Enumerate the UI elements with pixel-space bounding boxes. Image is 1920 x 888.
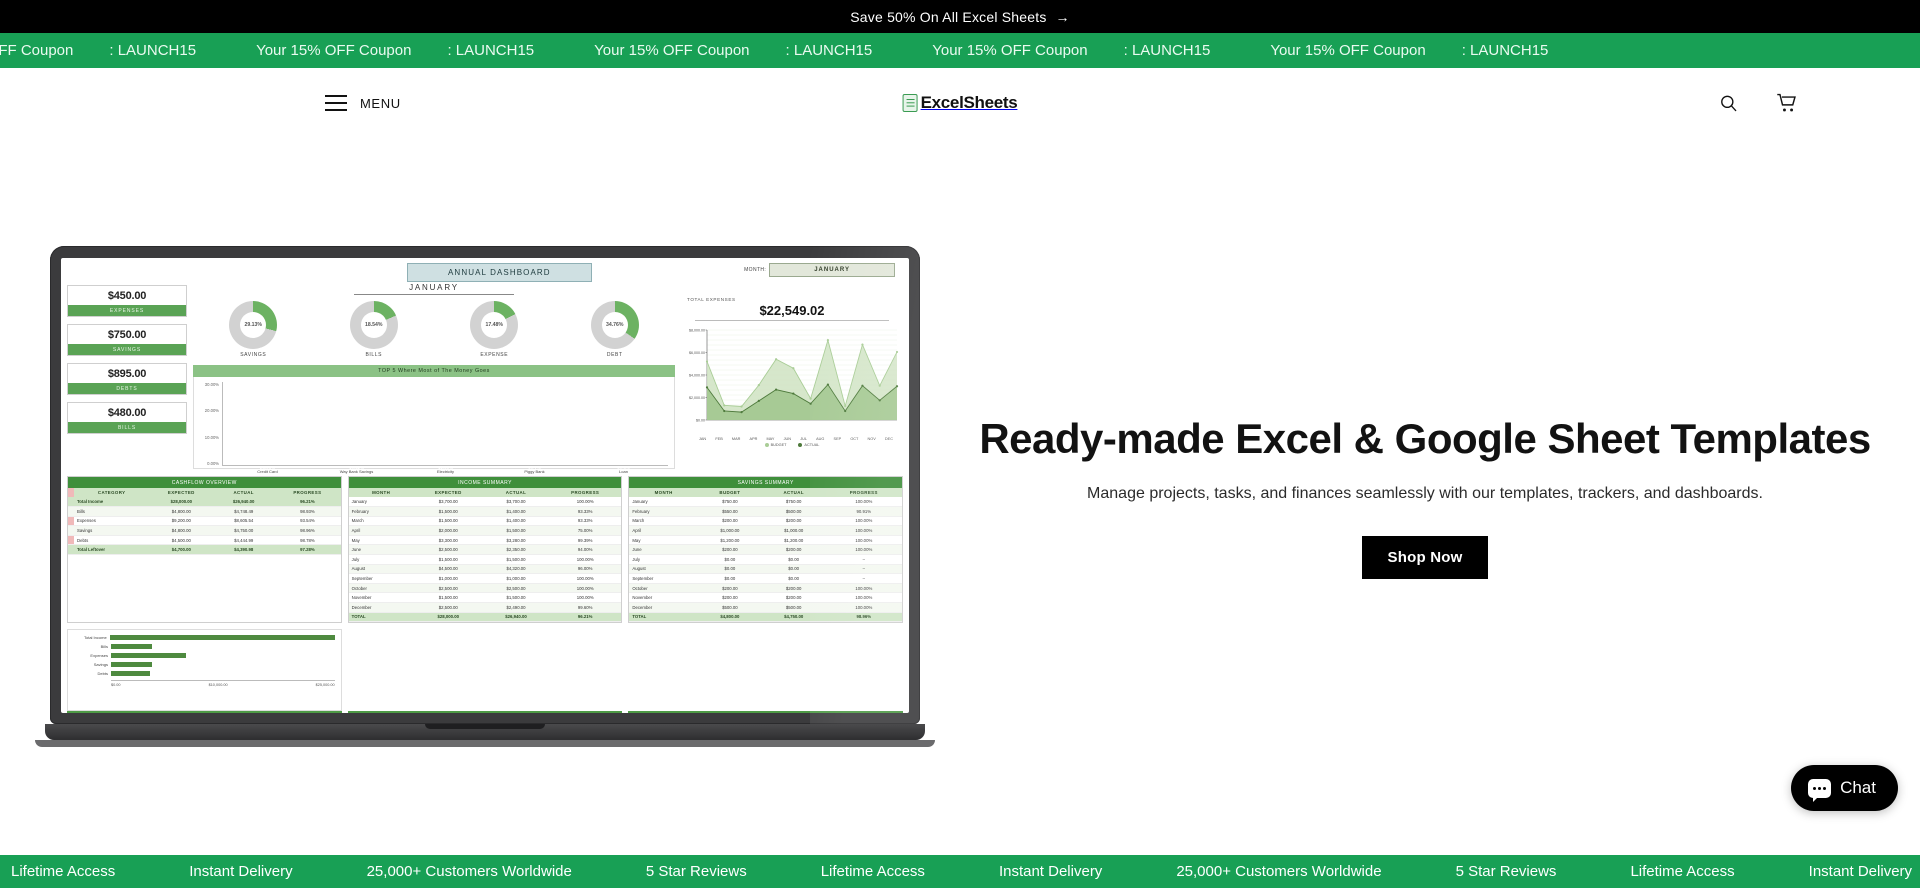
announcement-text: Save 50% On All Excel Sheets bbox=[850, 9, 1046, 25]
feature-item: Instant Delivery bbox=[1772, 863, 1920, 880]
x-tick-label: $10,000.00 bbox=[209, 683, 228, 687]
feature-item: 25,000+ Customers Worldwide bbox=[330, 863, 609, 880]
column-header: ACTUAL bbox=[213, 488, 274, 497]
shop-now-button[interactable]: Shop Now bbox=[1362, 536, 1489, 579]
donut-ring: 34.76% bbox=[591, 301, 639, 349]
table-row: April$1,000.00$1,000.00100.00% bbox=[629, 526, 902, 536]
table-cell: $200.00 bbox=[762, 545, 826, 555]
table-cell: 98.93% bbox=[274, 506, 341, 516]
excel-dashboard: ANNUAL DASHBOARD MONTH: JANUARY $450.00E… bbox=[61, 258, 909, 713]
column-header: PROGRESS bbox=[274, 488, 341, 497]
table-cell: $200.00 bbox=[762, 516, 826, 526]
table-cell: $1,500.00 bbox=[483, 593, 549, 603]
column-header: PROGRESS bbox=[549, 488, 621, 497]
kpi-card: $895.00DEBTS bbox=[67, 363, 187, 395]
table-cell: September bbox=[349, 574, 414, 584]
table-cell: $0.00 bbox=[698, 574, 762, 584]
table-cell: May bbox=[349, 535, 414, 545]
top5-bar-chart: 30.00%20.00%10.00%0.00% 25.05%Credit Car… bbox=[193, 377, 675, 469]
total-expenses-value: $22,549.02 bbox=[695, 303, 889, 321]
table-cell: $1,000.00 bbox=[698, 526, 762, 536]
logo-text: ExcelSheets bbox=[921, 93, 1018, 113]
table-cell: November bbox=[629, 593, 698, 603]
table-cell: July bbox=[349, 554, 414, 564]
coupon-item: Your 15% OFF Coupon: LAUNCH15 bbox=[932, 42, 1210, 59]
dashboard-top-row: $450.00EXPENSES$750.00SAVINGS$895.00DEBT… bbox=[67, 279, 903, 469]
hbar-label: Expenses bbox=[74, 653, 108, 658]
cart-button[interactable] bbox=[1772, 89, 1802, 118]
cashflow-hbar-chart: Total IncomeBillsExpensesSavingsDebts$0.… bbox=[67, 629, 342, 711]
feature-item: Instant Delivery bbox=[152, 863, 329, 880]
table-cell: $28,000.00 bbox=[149, 497, 213, 506]
y-tick-label: 30.00% bbox=[200, 382, 219, 387]
table-row: Total Leftover$4,700.00$4,390.9897.28% bbox=[68, 545, 341, 555]
table-cell: 100.00% bbox=[549, 593, 621, 603]
daily-expense-title: DAILY EXPENSE SUMMARY bbox=[67, 711, 342, 713]
table-cell: $3,280.00 bbox=[483, 535, 549, 545]
table-cell: $1,000.00 bbox=[762, 526, 826, 536]
table-cell: $2,500.00 bbox=[483, 583, 549, 593]
coupon-code: : LAUNCH15 bbox=[447, 42, 534, 59]
table-cell: $4,800.00 bbox=[149, 526, 213, 536]
table-row: November$200.00$200.00100.00% bbox=[629, 593, 902, 603]
table-cell: 100.00% bbox=[826, 593, 902, 603]
search-button[interactable] bbox=[1715, 90, 1742, 117]
table-row: May$1,200.00$1,200.00100.00% bbox=[629, 535, 902, 545]
table-row: September$0.00$0.00– bbox=[629, 574, 902, 584]
x-tick-label: NOV bbox=[868, 437, 876, 441]
table-cell: $3,700.00 bbox=[414, 497, 483, 506]
table-cell: 100.00% bbox=[826, 535, 902, 545]
table-row: TOTAL$4,800.00$4,750.0098.96% bbox=[629, 612, 902, 622]
table-cell: August bbox=[349, 564, 414, 574]
table-cell: $4,700.00 bbox=[149, 545, 213, 555]
table-cell: $4,800.00 bbox=[698, 612, 762, 622]
dashboard-middle: JANUARY 29.13%SAVINGS18.54%BILLS17.48%EX… bbox=[193, 279, 675, 469]
table-cell: 75.00% bbox=[549, 526, 621, 536]
table-cell: $9,200.00 bbox=[149, 516, 213, 526]
table-cell: $1,000.00 bbox=[483, 574, 549, 584]
dashboard-title-row: ANNUAL DASHBOARD MONTH: JANUARY bbox=[67, 263, 903, 279]
table-cell: 100.00% bbox=[826, 497, 902, 506]
table-cell: $4,750.00 bbox=[213, 526, 274, 536]
table-cell: Total Leftover bbox=[74, 545, 149, 555]
table-row: February$1,500.00$1,400.0093.33% bbox=[349, 506, 622, 516]
kpi-card: $480.00BILLS bbox=[67, 402, 187, 434]
table-cell: March bbox=[629, 516, 698, 526]
table-row: December$500.00$500.00100.00% bbox=[629, 602, 902, 612]
table-cell: 96.21% bbox=[549, 612, 621, 622]
table-cell: 100.00% bbox=[549, 574, 621, 584]
table-cell: 98.78% bbox=[274, 535, 341, 545]
column-header: MONTH bbox=[629, 488, 698, 497]
coupon-item: Your 15% OFF Coupon: LAUNCH15 bbox=[256, 42, 534, 59]
laptop-foot bbox=[35, 740, 935, 747]
kpi-card: $450.00EXPENSES bbox=[67, 285, 187, 317]
kpi-tag: SAVINGS bbox=[68, 344, 186, 355]
legend-label: ACTUAL bbox=[804, 443, 819, 447]
table-row: October$2,500.00$2,500.00100.00% bbox=[349, 583, 622, 593]
document-icon bbox=[903, 94, 918, 112]
area-chart-svg: $0.00$2,000.00$4,000.00$6,000.00$8,000.0… bbox=[681, 326, 903, 428]
table-cell: TOTAL bbox=[629, 612, 698, 622]
table-row: March$200.00$200.00100.00% bbox=[629, 516, 902, 526]
chat-bubble-icon bbox=[1808, 779, 1831, 798]
coupon-code: : LAUNCH15 bbox=[1124, 42, 1211, 59]
table-cell: $0.00 bbox=[698, 564, 762, 574]
table-cell: December bbox=[629, 602, 698, 612]
x-tick-label: SEP bbox=[834, 437, 842, 441]
income-summary-table: INCOME SUMMARY MONTHEXPECTEDACTUALPROGRE… bbox=[348, 476, 623, 623]
hbar-fill bbox=[111, 644, 152, 649]
table-cell: 98.96% bbox=[826, 612, 902, 622]
table-cell: Savings bbox=[74, 526, 149, 536]
total-expenses-label: TOTAL EXPENSES bbox=[687, 297, 903, 302]
table-row: Debts$4,500.00$4,444.9998.78% bbox=[68, 535, 341, 545]
table-row: March$1,500.00$1,400.0093.33% bbox=[349, 516, 622, 526]
coupon-code: : LAUNCH15 bbox=[786, 42, 873, 59]
table-row: November$1,500.00$1,500.00100.00% bbox=[349, 593, 622, 603]
table-row: TOTAL$28,000.00$26,940.0096.21% bbox=[349, 612, 622, 622]
x-tick-label: AUG bbox=[816, 437, 824, 441]
bill-block: BILL SUMMARY MONTHBUDGETACTUALPROGRESS bbox=[348, 629, 623, 713]
table-cell: February bbox=[629, 506, 698, 516]
table-cell: 93.33% bbox=[549, 516, 621, 526]
feature-item: 25,000+ Customers Worldwide bbox=[1139, 863, 1418, 880]
table-cell: June bbox=[629, 545, 698, 555]
coupon-item: Your 15% OFF Coupon: LAUNCH15 bbox=[1270, 42, 1548, 59]
legend-swatch-icon bbox=[798, 443, 802, 447]
search-icon bbox=[1719, 94, 1738, 113]
savings-title: SAVINGS SUMMARY bbox=[629, 477, 902, 488]
bar-category-label: Piggy Bank bbox=[511, 469, 559, 474]
kpi-value: $480.00 bbox=[68, 403, 186, 422]
table-row: August$4,500.00$4,320.0096.00% bbox=[349, 564, 622, 574]
x-tick-label: JAN bbox=[699, 437, 706, 441]
table-row: Total Income$28,000.00$26,940.0096.21% bbox=[68, 497, 341, 506]
table-cell: $750.00 bbox=[762, 497, 826, 506]
table-cell: $1,500.00 bbox=[483, 526, 549, 536]
hbar-row: Expenses bbox=[74, 653, 335, 658]
table-cell: Bills bbox=[74, 506, 149, 516]
table-cell: 94.00% bbox=[549, 545, 621, 555]
y-tick-label: 10.00% bbox=[200, 435, 219, 440]
table-cell: 100.00% bbox=[826, 526, 902, 536]
table-cell: 100.00% bbox=[549, 554, 621, 564]
hero-content: Ready-made Excel & Google Sheet Template… bbox=[960, 415, 1920, 579]
coupon-label: Your 15% OFF Coupon bbox=[932, 42, 1087, 59]
features-marquee: Lifetime AccessInstant Delivery25,000+ C… bbox=[0, 855, 1920, 888]
table-cell: $550.00 bbox=[698, 506, 762, 516]
donut-chart: 17.48%EXPENSE bbox=[470, 301, 518, 358]
table-cell: $4,390.98 bbox=[213, 545, 274, 555]
table-cell: January bbox=[629, 497, 698, 506]
hbar-label: Total Income bbox=[74, 635, 107, 640]
table-cell: 93.54% bbox=[274, 516, 341, 526]
hbar-row: Total Income bbox=[74, 635, 335, 640]
laptop-mockup: ANNUAL DASHBOARD MONTH: JANUARY $450.00E… bbox=[50, 246, 920, 747]
donut-percent: 29.13% bbox=[229, 301, 277, 349]
donut-chart-row: 29.13%SAVINGS18.54%BILLS17.48%EXPENSE34.… bbox=[193, 301, 675, 358]
column-header: ACTUAL bbox=[762, 488, 826, 497]
table-cell: September bbox=[629, 574, 698, 584]
x-tick-label: JUN bbox=[784, 437, 791, 441]
table-cell: $0.00 bbox=[762, 574, 826, 584]
table-cell: $4,500.00 bbox=[149, 535, 213, 545]
table-cell: $1,400.00 bbox=[483, 516, 549, 526]
site-logo[interactable]: ExcelSheets bbox=[903, 93, 1018, 113]
table-cell: $0.00 bbox=[698, 554, 762, 564]
column-header: BUDGET bbox=[698, 488, 762, 497]
donut-ring: 29.13% bbox=[229, 301, 277, 349]
table-cell: $0.00 bbox=[762, 554, 826, 564]
area-chart-x-labels: JANFEBMARAPRMAYJUNJULAUGSEPOCTNOVDEC bbox=[681, 436, 903, 441]
announcement-bar[interactable]: Save 50% On All Excel Sheets → bbox=[0, 0, 1920, 33]
header-actions bbox=[1715, 89, 1802, 118]
kpi-card: $750.00SAVINGS bbox=[67, 324, 187, 356]
cashflow-overview-table: CASHFLOW OVERVIEW CATEGORYEXPECTEDACTUAL… bbox=[67, 476, 342, 623]
table-cashflow: CATEGORYEXPECTEDACTUALPROGRESSTotal Inco… bbox=[68, 488, 341, 555]
donut-chart: 29.13%SAVINGS bbox=[229, 301, 277, 358]
table-cell: $200.00 bbox=[762, 583, 826, 593]
table-cell: March bbox=[349, 516, 414, 526]
legend-swatch-icon bbox=[765, 443, 769, 447]
coupon-item: Your 15% OFF Coupon: LAUNCH15 bbox=[0, 42, 196, 59]
table-cell: $4,500.00 bbox=[414, 564, 483, 574]
legend-item: BUDGET bbox=[765, 443, 787, 447]
x-tick-label: OCT bbox=[850, 437, 858, 441]
feature-item: Instant Delivery bbox=[962, 863, 1139, 880]
table-row: February$550.00$500.0090.91% bbox=[629, 506, 902, 516]
bar-category-label: Way Bank Savings bbox=[333, 469, 381, 474]
table-cell: 100.00% bbox=[826, 545, 902, 555]
table-cell: $200.00 bbox=[698, 545, 762, 555]
table-cell: Expenses bbox=[74, 516, 149, 526]
donut-label: BILLS bbox=[350, 352, 398, 358]
top5-chart-title: TOP 5 Where Most of The Money Goes bbox=[193, 365, 675, 377]
hbar-row: Bills bbox=[74, 644, 335, 649]
table-cell: $200.00 bbox=[762, 593, 826, 603]
donut-label: SAVINGS bbox=[229, 352, 277, 358]
table-cell: 98.96% bbox=[274, 526, 341, 536]
table-cell: $750.00 bbox=[698, 497, 762, 506]
table-cell: 100.00% bbox=[826, 602, 902, 612]
column-header: EXPECTED bbox=[149, 488, 213, 497]
debt-block: DEBT SUMMARY MONTHBUDGETACTUALPROGRESS bbox=[628, 629, 903, 713]
table-cell: October bbox=[349, 583, 414, 593]
hbar-fill bbox=[111, 662, 152, 667]
table-cell: 100.00% bbox=[549, 583, 621, 593]
table-cell: 100.00% bbox=[826, 583, 902, 593]
table-cell: 93.33% bbox=[549, 506, 621, 516]
table-row: Savings$4,800.00$4,750.0098.96% bbox=[68, 526, 341, 536]
laptop-body: ANNUAL DASHBOARD MONTH: JANUARY $450.00E… bbox=[50, 246, 920, 724]
column-header: CATEGORY bbox=[74, 488, 149, 497]
hbar-fill bbox=[111, 653, 186, 658]
y-tick-label: 0.00% bbox=[200, 461, 219, 466]
table-cell: $1,500.00 bbox=[414, 554, 483, 564]
table-cell: $500.00 bbox=[762, 506, 826, 516]
table-cell: $1,400.00 bbox=[483, 506, 549, 516]
donut-percent: 18.54% bbox=[350, 301, 398, 349]
table-cell: $4,750.00 bbox=[762, 612, 826, 622]
table-cell: $1,500.00 bbox=[414, 593, 483, 603]
table-income: MONTHEXPECTEDACTUALPROGRESSJanuary$3,700… bbox=[349, 488, 622, 622]
coupon-marquee-track: Your 15% OFF Coupon: LAUNCH15Your 15% OF… bbox=[0, 42, 1548, 59]
column-header: EXPECTED bbox=[414, 488, 483, 497]
donut-percent: 34.76% bbox=[591, 301, 639, 349]
table-row: July$1,500.00$1,500.00100.00% bbox=[349, 554, 622, 564]
table-cell: $4,748.49 bbox=[213, 506, 274, 516]
table-cell: $1,500.00 bbox=[483, 554, 549, 564]
donut-ring: 17.48% bbox=[470, 301, 518, 349]
bar-chart-y-axis: 30.00%20.00%10.00%0.00% bbox=[200, 382, 222, 466]
features-marquee-track: Lifetime AccessInstant Delivery25,000+ C… bbox=[0, 863, 1920, 880]
table-row: Bills$4,800.00$4,748.4998.93% bbox=[68, 506, 341, 516]
month-picker-label: MONTH: bbox=[744, 267, 766, 273]
table-cell: $26,940.00 bbox=[483, 612, 549, 622]
table-cell: May bbox=[629, 535, 698, 545]
coupon-label: Your 15% OFF Coupon bbox=[594, 42, 749, 59]
section-month-title: JANUARY bbox=[354, 283, 514, 295]
hbar-fill bbox=[110, 635, 335, 640]
coupon-code: : LAUNCH15 bbox=[1462, 42, 1549, 59]
bar-category-label: Credit Card bbox=[244, 469, 292, 474]
table-cell: 96.21% bbox=[274, 497, 341, 506]
coupon-marquee: Your 15% OFF Coupon: LAUNCH15Your 15% OF… bbox=[0, 33, 1920, 68]
donut-chart: 18.54%BILLS bbox=[350, 301, 398, 358]
table-row: June$200.00$200.00100.00% bbox=[629, 545, 902, 555]
hero-subtitle: Manage projects, tasks, and finances sea… bbox=[1087, 485, 1763, 503]
donut-label: DEBT bbox=[591, 352, 639, 358]
table-cell: November bbox=[349, 593, 414, 603]
table-cell: August bbox=[629, 564, 698, 574]
table-cell: July bbox=[629, 554, 698, 564]
income-title: INCOME SUMMARY bbox=[349, 477, 622, 488]
feature-item: 5 Star Reviews bbox=[1419, 863, 1594, 880]
chat-widget-button[interactable]: Chat bbox=[1791, 765, 1898, 811]
table-cell: 100.00% bbox=[549, 497, 621, 506]
donut-ring: 18.54% bbox=[350, 301, 398, 349]
table-cell: $500.00 bbox=[698, 602, 762, 612]
kpi-value: $450.00 bbox=[68, 286, 186, 305]
coupon-label: Your 15% OFF Coupon bbox=[256, 42, 411, 59]
bar-category-label: Loan bbox=[600, 469, 648, 474]
y-tick-label: $6,000.00 bbox=[689, 351, 705, 355]
table-cell: – bbox=[826, 564, 902, 574]
bar-chart-plot: 25.05%Credit Card19.42%Way Bank Savings1… bbox=[222, 382, 668, 466]
table-cell: $1,200.00 bbox=[698, 535, 762, 545]
summary-tables-row: CASHFLOW OVERVIEW CATEGORYEXPECTEDACTUAL… bbox=[67, 476, 903, 623]
cart-icon bbox=[1776, 93, 1798, 114]
x-tick-label: APR bbox=[750, 437, 758, 441]
coupon-label: Your 15% OFF Coupon bbox=[1270, 42, 1425, 59]
hamburger-icon bbox=[325, 95, 347, 111]
table-row: Expenses$9,200.00$8,605.5493.54% bbox=[68, 516, 341, 526]
y-tick-label: 20.00% bbox=[200, 408, 219, 413]
coupon-label: Your 15% OFF Coupon bbox=[0, 42, 73, 59]
table-cell: $500.00 bbox=[762, 602, 826, 612]
table-cell: $4,320.00 bbox=[483, 564, 549, 574]
coupon-code: : LAUNCH15 bbox=[109, 42, 196, 59]
annual-dashboard-badge: ANNUAL DASHBOARD bbox=[407, 263, 592, 282]
x-tick-label: $0.00 bbox=[111, 683, 121, 687]
table-cell: $28,000.00 bbox=[414, 612, 483, 622]
expenses-area-chart-panel: TOTAL EXPENSES $22,549.02 $0.00$2,000.00… bbox=[681, 279, 903, 469]
hbar-axis: $0.00$10,000.00$25,000.00 bbox=[111, 680, 335, 687]
x-tick-label: FEB bbox=[715, 437, 722, 441]
bar-category-label: Electricity bbox=[422, 469, 470, 474]
table-cell: $1,000.00 bbox=[414, 574, 483, 584]
cashflow-title: CASHFLOW OVERVIEW bbox=[68, 477, 341, 488]
site-header: MENU ExcelSheets bbox=[0, 68, 1920, 138]
table-cell: Total Income bbox=[74, 497, 149, 506]
table-cell: $3,700.00 bbox=[483, 497, 549, 506]
daily-expense-block: Total IncomeBillsExpensesSavingsDebts$0.… bbox=[67, 629, 342, 713]
month-picker[interactable]: MONTH: JANUARY bbox=[744, 263, 895, 277]
feature-item: Lifetime Access bbox=[784, 863, 962, 880]
table-cell: $2,350.00 bbox=[483, 545, 549, 555]
column-header: MONTH bbox=[349, 488, 414, 497]
table-cell: 97.28% bbox=[274, 545, 341, 555]
table-cell: Debts bbox=[74, 535, 149, 545]
hero-image-area: ANNUAL DASHBOARD MONTH: JANUARY $450.00E… bbox=[0, 246, 960, 747]
x-tick-label: JUL bbox=[800, 437, 807, 441]
menu-button-label: MENU bbox=[360, 96, 401, 111]
table-cell: $4,444.99 bbox=[213, 535, 274, 545]
table-row: April$2,000.00$1,500.0075.00% bbox=[349, 526, 622, 536]
table-cell: TOTAL bbox=[349, 612, 414, 622]
table-row: June$2,500.00$2,350.0094.00% bbox=[349, 545, 622, 555]
hbar-row: Savings bbox=[74, 662, 335, 667]
table-cell: February bbox=[349, 506, 414, 516]
table-cell: December bbox=[349, 602, 414, 612]
lower-summary-row: Total IncomeBillsExpensesSavingsDebts$0.… bbox=[67, 629, 903, 713]
y-tick-label: $2,000.00 bbox=[689, 396, 705, 400]
table-cell: $2,500.00 bbox=[414, 545, 483, 555]
hbar-row: Debts bbox=[74, 671, 335, 676]
column-header: PROGRESS bbox=[826, 488, 902, 497]
table-cell: $0.00 bbox=[762, 564, 826, 574]
table-row: October$200.00$200.00100.00% bbox=[629, 583, 902, 593]
column-header: ACTUAL bbox=[483, 488, 549, 497]
hbar-label: Savings bbox=[74, 662, 108, 667]
y-tick-label: $8,000.00 bbox=[689, 329, 705, 333]
x-tick-label: DEC bbox=[885, 437, 893, 441]
table-cell: $3,300.00 bbox=[414, 535, 483, 545]
table-cell: $200.00 bbox=[698, 516, 762, 526]
table-cell: – bbox=[826, 554, 902, 564]
coupon-item: Your 15% OFF Coupon: LAUNCH15 bbox=[594, 42, 872, 59]
table-cell: $4,800.00 bbox=[149, 506, 213, 516]
savings-summary-table: SAVINGS SUMMARY MONTHBUDGETACTUALPROGRES… bbox=[628, 476, 903, 623]
x-tick-label: $25,000.00 bbox=[316, 683, 335, 687]
menu-button[interactable]: MENU bbox=[325, 95, 401, 111]
bill-title: BILL SUMMARY bbox=[348, 711, 623, 713]
kpi-column: $450.00EXPENSES$750.00SAVINGS$895.00DEBT… bbox=[67, 279, 187, 469]
table-row: September$1,000.00$1,000.00100.00% bbox=[349, 574, 622, 584]
legend-label: BUDGET bbox=[771, 443, 787, 447]
kpi-tag: DEBTS bbox=[68, 383, 186, 394]
kpi-tag: EXPENSES bbox=[68, 305, 186, 316]
table-cell: $200.00 bbox=[698, 583, 762, 593]
table-row: July$0.00$0.00– bbox=[629, 554, 902, 564]
table-row: August$0.00$0.00– bbox=[629, 564, 902, 574]
donut-chart: 34.76%DEBT bbox=[591, 301, 639, 358]
table-row: January$3,700.00$3,700.00100.00% bbox=[349, 497, 622, 506]
table-cell: October bbox=[629, 583, 698, 593]
table-cell: 100.00% bbox=[826, 516, 902, 526]
